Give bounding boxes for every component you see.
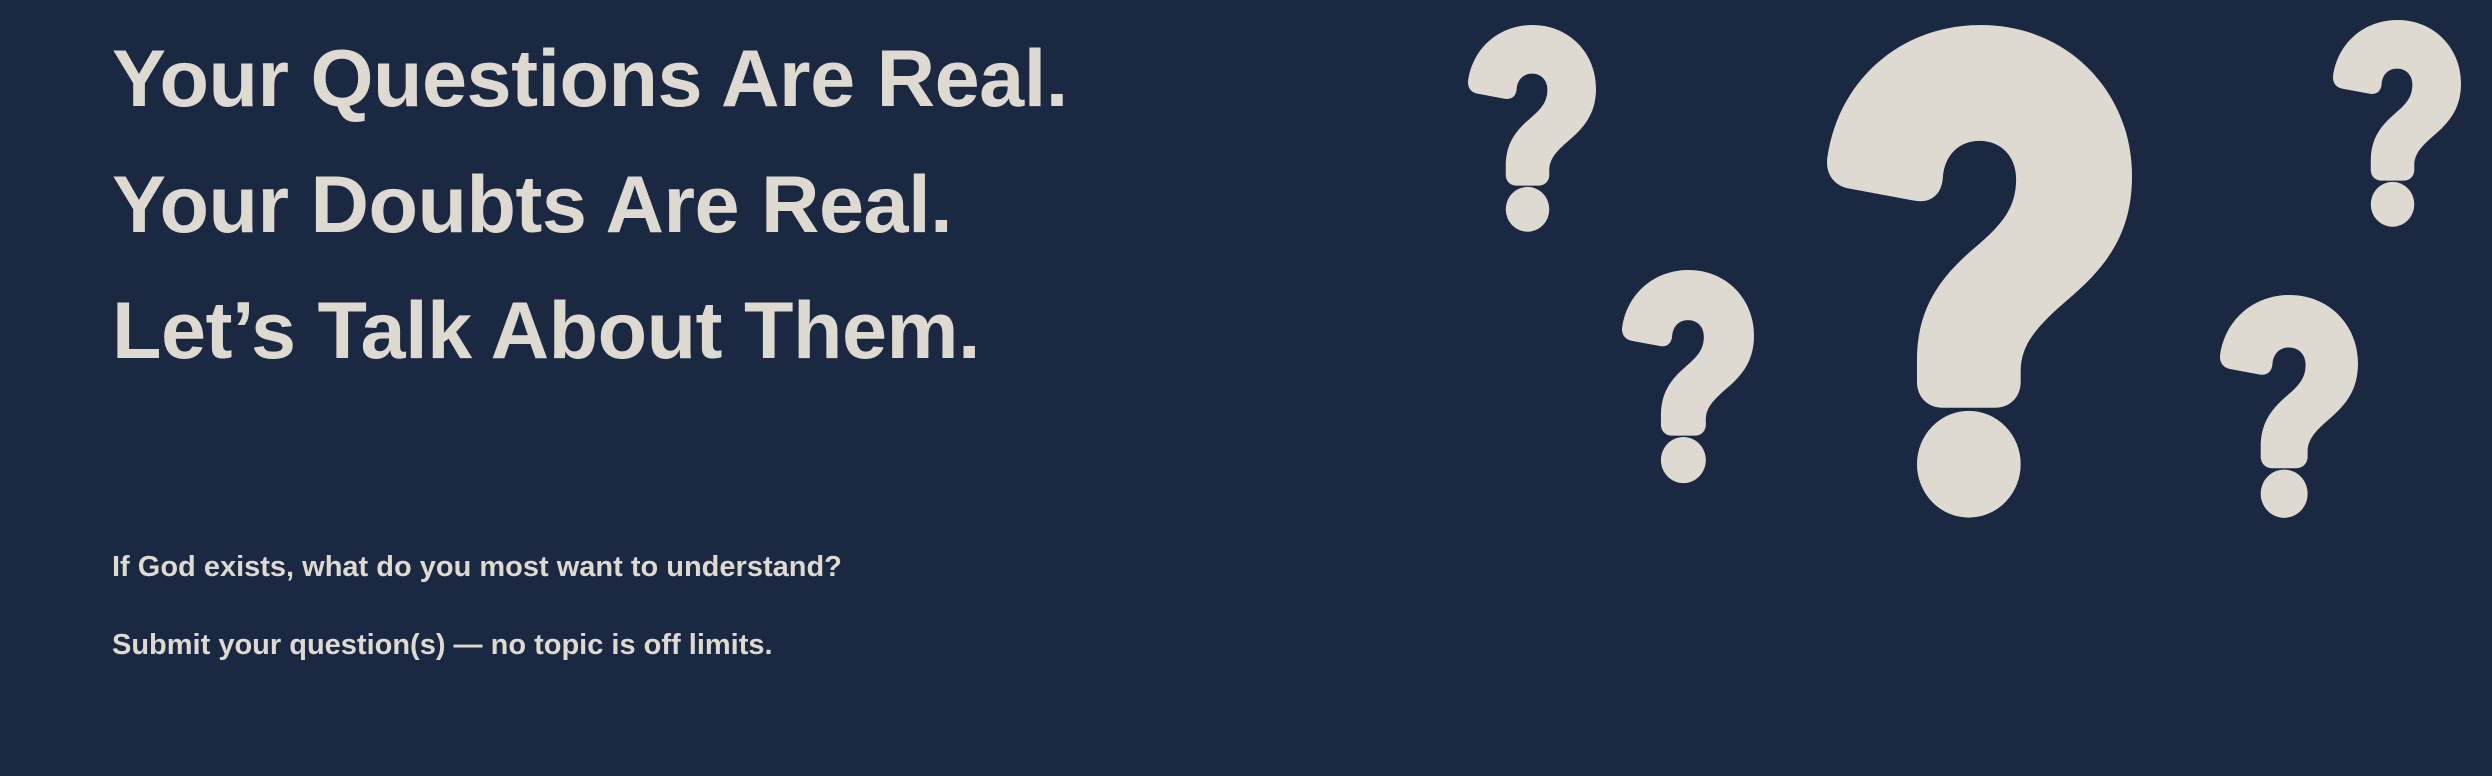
headline-line-3: Let’s Talk About Them. [112, 268, 1392, 394]
question-mark-bottom-right [2220, 295, 2358, 518]
question-mark-bottom-left [1622, 270, 1754, 483]
subcopy-prompt-question: If God exists, what do you most want to … [112, 548, 1392, 586]
question-mark-top-left [1468, 25, 1596, 232]
question-marks-cluster [1450, 0, 2492, 776]
hero-banner: Your Questions Are Real. Your Doubts Are… [0, 0, 2492, 776]
subcopy-submit-instruction: Submit your question(s) — no topic is of… [112, 626, 1392, 664]
headline-line-2: Your Doubts Are Real. [112, 142, 1392, 268]
subcopy-spacer [112, 586, 1392, 626]
question-mark-top-right [2333, 20, 2461, 227]
question-mark-center-large [1827, 25, 2132, 518]
page-title: Your Questions Are Real. Your Doubts Are… [112, 16, 1392, 394]
headline-line-1: Your Questions Are Real. [112, 16, 1392, 142]
hero-subcopy: If God exists, what do you most want to … [112, 548, 1392, 664]
hero-text-column: Your Questions Are Real. Your Doubts Are… [112, 0, 1412, 776]
